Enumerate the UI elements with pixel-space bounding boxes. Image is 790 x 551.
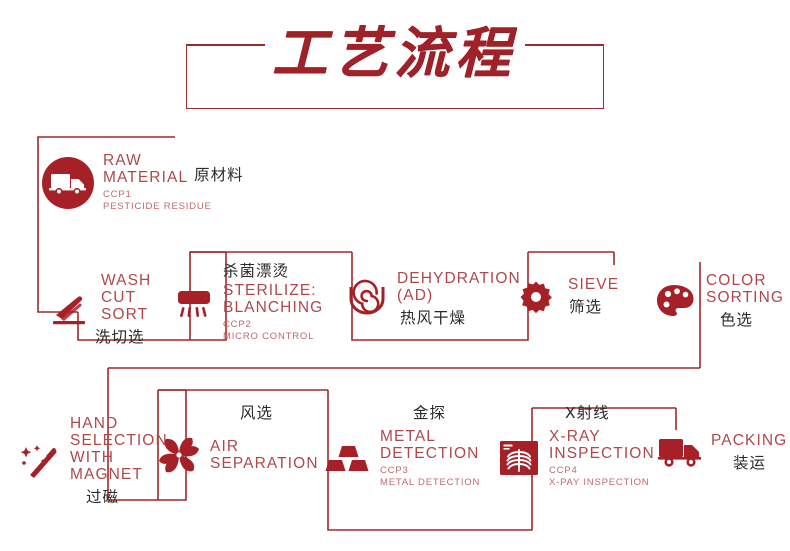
- step-x-ray-inspection[interactable]: X-RAY INSPECTION CCP4 X-PAY INSPECTION: [497, 428, 655, 489]
- step-ccp-code: CCP4: [549, 465, 655, 477]
- step-packing[interactable]: PACKING 装运: [657, 432, 787, 473]
- step-raw-material-text: RAW MATERIAL 原材料 CCP1 PESTICIDE RESIDUE: [103, 152, 244, 213]
- step-color-sorting[interactable]: COLOR SORTING 色选: [655, 272, 784, 330]
- step-cn-label: 洗切选: [95, 325, 151, 347]
- step-x-ray-text: X-RAY INSPECTION CCP4 X-PAY INSPECTION: [549, 428, 655, 489]
- step-dehydration-text: DEHYDRATION (AD) 热风干燥: [397, 270, 521, 328]
- diagram-title: 工艺流程: [186, 22, 604, 110]
- step-cn-label: 装运: [733, 451, 787, 473]
- step-air-separation-cn-label: 风选: [240, 401, 273, 423]
- palette-icon: [655, 282, 697, 320]
- step-ccp-code: CCP3: [380, 465, 480, 477]
- process-flow-diagram: 工艺流程 R: [0, 0, 790, 551]
- step-hand-selection-magnet[interactable]: HAND SELECTION WITH MAGNET 过磁: [16, 415, 168, 507]
- step-color-sorting-text: COLOR SORTING 色选: [706, 272, 784, 330]
- step-en-label: AIR SEPARATION: [210, 438, 319, 472]
- step-cn-label: 过磁: [86, 485, 168, 507]
- step-cn-label: 色选: [720, 308, 784, 330]
- step-en-label: DEHYDRATION (AD): [397, 270, 521, 304]
- knife-icon: [48, 288, 94, 332]
- step-ccp-desc: PESTICIDE RESIDUE: [103, 201, 244, 213]
- shower-icon: [172, 280, 216, 326]
- step-metal-detection-cn-label: 金探: [413, 401, 446, 423]
- step-cn-label: 热风干燥: [400, 306, 521, 328]
- step-metal-detection-text: METAL DETECTION CCP3 METAL DETECTION: [380, 428, 480, 489]
- truck-circle-icon: [40, 155, 96, 211]
- step-sieve[interactable]: SIEVE 筛选: [518, 276, 619, 317]
- xray-icon: [497, 437, 541, 481]
- step-ccp-desc: MICRO CONTROL: [223, 331, 323, 343]
- step-ccp-desc: METAL DETECTION: [380, 477, 480, 489]
- step-cn-label: 原材料: [194, 163, 244, 186]
- step-x-ray-cn-label: X射线: [565, 401, 610, 423]
- step-en-label: PACKING: [711, 432, 787, 449]
- magnet-wand-icon: [16, 437, 64, 485]
- metal-bars-icon: [325, 438, 373, 480]
- step-air-separation-text: AIR SEPARATION: [210, 438, 319, 472]
- step-en-label: WASH CUT SORT: [101, 272, 151, 323]
- step-en-label: COLOR SORTING: [706, 272, 784, 306]
- step-metal-detection[interactable]: METAL DETECTION CCP3 METAL DETECTION: [325, 428, 480, 489]
- step-en-label: HAND SELECTION WITH MAGNET: [70, 415, 168, 483]
- step-cn-label: 筛选: [569, 295, 619, 317]
- truck-icon: [657, 435, 703, 471]
- spiral-bowl-icon: [346, 279, 390, 319]
- step-en-label: STERILIZE: BLANCHING: [223, 282, 323, 316]
- step-wash-cut-sort-text: WASH CUT SORT 洗切选: [101, 272, 151, 347]
- step-wash-cut-sort[interactable]: WASH CUT SORT 洗切选: [48, 272, 151, 347]
- step-en-label: X-RAY INSPECTION: [549, 428, 655, 462]
- step-dehydration[interactable]: DEHYDRATION (AD) 热风干燥: [346, 270, 521, 328]
- step-air-separation[interactable]: AIR SEPARATION: [156, 432, 319, 478]
- step-ccp-code: CCP1: [103, 189, 244, 201]
- step-sieve-text: SIEVE 筛选: [568, 276, 619, 317]
- step-en-label: SIEVE: [568, 276, 619, 293]
- step-cn-label: 杀菌漂烫: [223, 262, 323, 281]
- step-sterilize-text: 杀菌漂烫 STERILIZE: BLANCHING CCP2 MICRO CON…: [223, 262, 323, 343]
- step-sterilize-blanching[interactable]: 杀菌漂烫 STERILIZE: BLANCHING CCP2 MICRO CON…: [172, 262, 323, 343]
- step-en-label: METAL DETECTION: [380, 428, 480, 462]
- step-ccp-code: CCP2: [223, 319, 323, 331]
- step-raw-material[interactable]: RAW MATERIAL 原材料 CCP1 PESTICIDE RESIDUE: [40, 152, 244, 213]
- title-text: 工艺流程: [186, 22, 602, 84]
- gear-icon: [518, 279, 554, 315]
- step-en-label: RAW MATERIAL: [103, 152, 188, 186]
- fan-icon: [156, 432, 202, 478]
- step-ccp-desc: X-PAY INSPECTION: [549, 477, 655, 489]
- step-hand-selection-text: HAND SELECTION WITH MAGNET 过磁: [70, 415, 168, 507]
- step-packing-text: PACKING 装运: [711, 432, 787, 473]
